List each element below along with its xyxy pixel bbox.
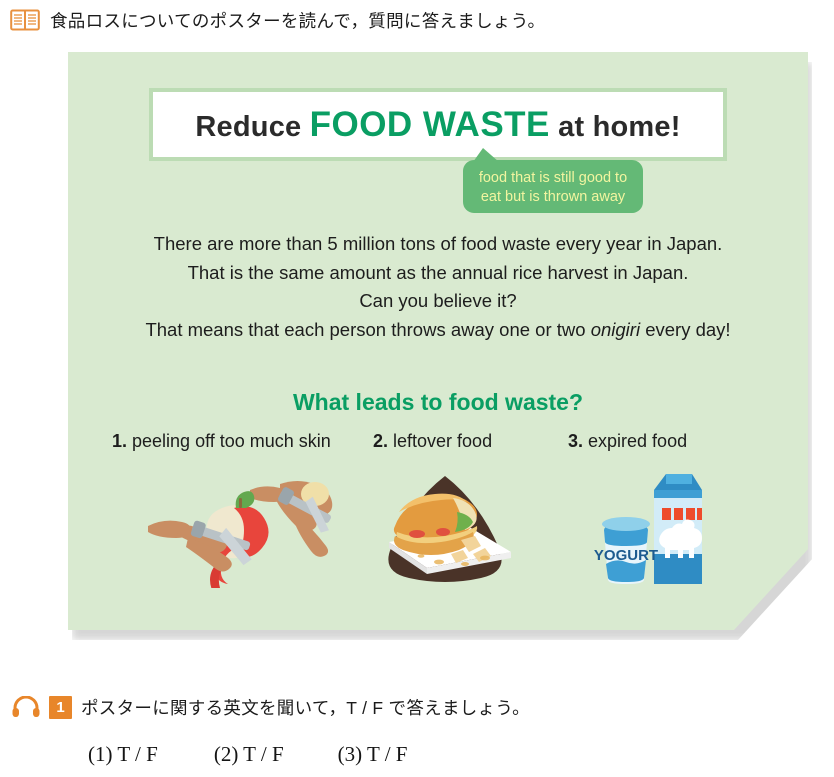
causes-group: 1. peeling off too much skin [68,432,808,630]
poster-body: Reduce FOOD WASTE at home! food that is … [68,52,808,630]
poster: Reduce FOOD WASTE at home! food that is … [68,52,812,637]
question-text: ポスターに関する英文を聞いて，T / F で答えましょう。 [81,695,530,720]
callout-bubble: food that is still good to eat but is th… [463,160,643,213]
yogurt-milk-art: YOGURT [576,468,736,588]
poster-title: Reduce FOOD WASTE at home! [195,105,680,145]
cause-label-2: 2. leftover food [373,432,523,452]
listening-question-row: 1 ポスターに関する英文を聞いて，T / F で答えましょう。 [12,692,530,722]
body-line-4-italic: onigiri [591,319,640,340]
cause-label-3: 3. expired food [568,432,728,452]
yogurt-label: YOGURT [594,547,658,564]
cause-item-2: 2. leftover food [373,432,523,588]
worksheet-page: 食品ロスについてのポスターを読んで，質問に答えましょう。 Reduce FOOD… [0,0,834,777]
cause-item-1: 1. peeling off too much skin [112,432,372,588]
answer-item-2[interactable]: (2) T / F [214,742,284,767]
leftover-sandwich-illustration [365,468,525,588]
cause-item-3: 3. expired food [568,432,728,588]
answer-item-3[interactable]: (3) T / F [338,742,408,767]
cause-text-2: leftover food [388,431,492,451]
title-highlight: FOOD WASTE [310,105,550,144]
body-line-4-after: every day! [640,319,731,340]
title-prefix: Reduce [195,111,309,143]
instruction-row: 食品ロスについてのポスターを読んで，質問に答えましょう。 [10,4,545,36]
question-number-badge: 1 [49,696,72,719]
cause-number-1: 1. [112,431,127,451]
body-line-1: There are more than 5 million tons of fo… [68,230,808,259]
body-line-2: That is the same amount as the annual ri… [68,259,808,288]
poster-body-text: There are more than 5 million tons of fo… [68,230,808,345]
peeling-apple-illustration [130,468,360,588]
peeling-apple-art [130,468,360,588]
headphones-icon [12,696,40,718]
open-book-icon [10,8,40,32]
cause-label-1: 1. peeling off too much skin [112,432,372,452]
body-line-4-before: That means that each person throws away … [145,319,590,340]
body-line-4: That means that each person throws away … [68,316,808,345]
poster-title-box: Reduce FOOD WASTE at home! [149,88,727,161]
section-heading: What leads to food waste? [68,389,808,416]
sandwich-art [365,468,525,588]
cause-text-3: expired food [583,431,687,451]
cause-number-2: 2. [373,431,388,451]
callout-line-2: eat but is thrown away [481,188,625,207]
expired-dairy-illustration: YOGURT [576,468,736,588]
cause-text-1: peeling off too much skin [127,431,331,451]
answer-item-1[interactable]: (1) T / F [88,742,158,767]
title-suffix: at home! [550,111,681,143]
body-line-3: Can you believe it? [68,287,808,316]
callout-line-1: food that is still good to [479,169,627,188]
cause-number-3: 3. [568,431,583,451]
answer-row: (1) T / F (2) T / F (3) T / F [88,742,407,767]
instruction-text: 食品ロスについてのポスターを読んで，質問に答えましょう。 [50,8,545,33]
